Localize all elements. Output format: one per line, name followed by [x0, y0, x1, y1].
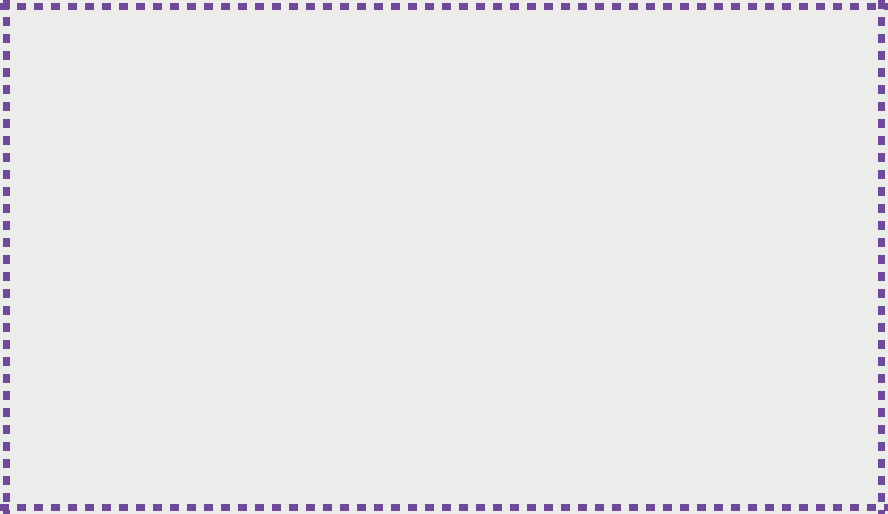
headline-decoding: Decoding [451, 36, 567, 64]
rating-good-caption: Good [88, 398, 130, 407]
node-channel-label-line2: Medium [525, 241, 585, 265]
rating-average-caption: Average [138, 398, 180, 407]
node-message[interactable]: Message [253, 197, 408, 285]
node-channel[interactable]: Channel Medium [478, 197, 633, 285]
node-sender[interactable]: Sender [28, 197, 183, 285]
label-feedback: Feedback [98, 450, 200, 476]
node-message-label: Message [297, 229, 365, 253]
response-sad-icon [764, 360, 802, 398]
arrow-message-to-channel [412, 226, 467, 258]
rating-very-poor[interactable]: Very Poor [238, 357, 280, 407]
label-communication-environment: Communication Enviornment [241, 448, 574, 478]
sender-mouth-node [314, 180, 332, 198]
smiley-sad-icon [192, 357, 226, 391]
rating-very-poor-caption: Very Poor [238, 398, 280, 407]
response-arrow [760, 282, 796, 360]
receiver-ear-node [618, 144, 634, 160]
node-receiver-label: Receiver [747, 229, 814, 253]
noise-type-channel: Channel [294, 416, 361, 436]
response-face-sad[interactable] [764, 360, 804, 403]
response-face-neutral[interactable] [806, 360, 846, 403]
diagram-inner-canvas: Encoding/Decoding [16, 16, 872, 498]
rating-average[interactable]: Average [138, 357, 180, 407]
node-noise[interactable]: Noise [304, 349, 576, 411]
arrow-sender-to-message [187, 226, 242, 258]
encoding-dashed-path [287, 134, 322, 188]
diagram-canvas: Encoding/Decoding [0, 0, 888, 514]
node-channel-label-line1: Channel [524, 217, 587, 241]
feedback-arrow [95, 282, 131, 360]
node-receiver[interactable]: Receiver [703, 197, 858, 285]
node-noise-label: Noise [418, 371, 462, 389]
smiley-very-happy-icon [42, 357, 76, 391]
rating-excellent[interactable]: Excellent [38, 357, 80, 407]
response-happy-icon [722, 360, 760, 398]
smiley-neutral-icon [142, 357, 176, 391]
smiley-very-sad-icon [242, 357, 276, 391]
smiley-happy-icon [92, 357, 126, 391]
rating-poor-caption: Poor [188, 398, 230, 407]
response-neutral-icon [806, 360, 844, 398]
rating-good[interactable]: Good [88, 357, 130, 407]
response-face-happy[interactable] [722, 360, 762, 403]
label-response: Response [686, 450, 791, 476]
rating-poor[interactable]: Poor [188, 357, 230, 407]
headline-separator: / [440, 36, 447, 64]
receiver-node-letter: B [646, 102, 663, 129]
noise-type-semantic: Semantic [478, 416, 554, 436]
node-sender-label: Sender [78, 229, 132, 253]
headline-encoding: Encoding [321, 36, 437, 64]
headline: Encoding/Decoding [16, 36, 872, 65]
sender-node-letter: A [262, 104, 279, 131]
rating-excellent-caption: Excellent [38, 398, 80, 407]
